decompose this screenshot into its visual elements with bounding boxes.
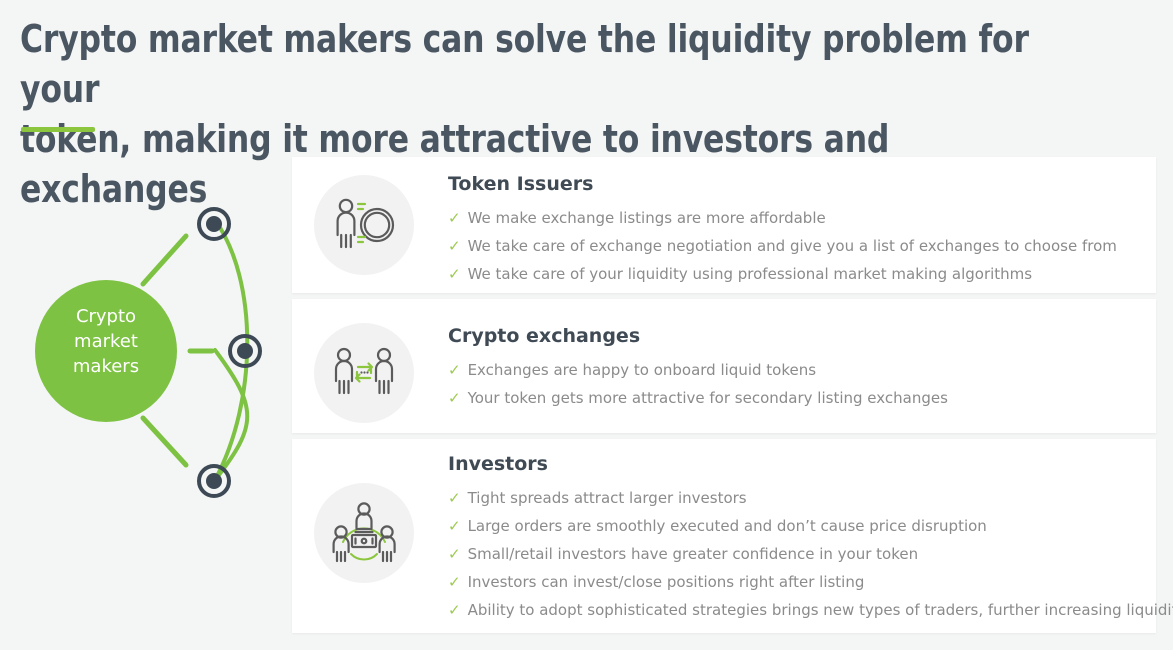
bullet-item: ✓ We take care of your liquidity using p… bbox=[448, 260, 1140, 288]
check-icon: ✓ bbox=[448, 260, 461, 288]
card-token-issuers[interactable]: Token Issuers ✓ We make exchange listing… bbox=[292, 157, 1156, 293]
check-icon: ✓ bbox=[448, 568, 461, 596]
card-investors[interactable]: Investors ✓ Tight spreads attract larger… bbox=[292, 439, 1156, 633]
check-icon: ✓ bbox=[448, 204, 461, 232]
bullet-text: We take care of exchange negotiation and… bbox=[468, 232, 1140, 260]
diagram-spoke-bottom bbox=[143, 418, 186, 465]
benefit-cards-list: Token Issuers ✓ We make exchange listing… bbox=[292, 157, 1156, 639]
check-icon: ✓ bbox=[448, 484, 461, 512]
bullet-item: ✓ Large orders are smoothly executed and… bbox=[448, 512, 1173, 540]
two-people-exchange-arrows-icon bbox=[314, 323, 414, 423]
node-investors bbox=[199, 466, 229, 496]
hub-circle bbox=[35, 280, 177, 422]
card-heading: Crypto exchanges bbox=[448, 325, 1140, 347]
check-icon: ✓ bbox=[448, 356, 461, 384]
bullet-text: Investors can invest/close positions rig… bbox=[468, 568, 1173, 596]
bullet-item: ✓ Exchanges are happy to onboard liquid … bbox=[448, 356, 1140, 384]
card-body: Investors ✓ Tight spreads attract larger… bbox=[426, 439, 1173, 638]
bullet-text: We take care of your liquidity using pro… bbox=[468, 260, 1140, 288]
title-underline-accent bbox=[21, 127, 95, 132]
diagram-spoke-top bbox=[143, 236, 186, 284]
bullet-text: Your token gets more attractive for seco… bbox=[468, 384, 1140, 412]
bullet-item: ✓ We take care of exchange negotiation a… bbox=[448, 232, 1140, 260]
check-icon: ✓ bbox=[448, 512, 461, 540]
check-icon: ✓ bbox=[448, 596, 461, 624]
bullet-item: ✓ Tight spreads attract larger investors bbox=[448, 484, 1173, 512]
card-body: Token Issuers ✓ We make exchange listing… bbox=[426, 157, 1156, 302]
person-with-list-and-coin-icon bbox=[314, 175, 414, 275]
card-body: Crypto exchanges ✓ Exchanges are happy t… bbox=[426, 299, 1156, 426]
bullet-text: Exchanges are happy to onboard liquid to… bbox=[468, 356, 1140, 384]
bullet-item: ✓ Ability to adopt sophisticated strateg… bbox=[448, 596, 1173, 624]
bullet-item: ✓ We make exchange listings are more aff… bbox=[448, 204, 1140, 232]
bullet-text: Tight spreads attract larger investors bbox=[468, 484, 1173, 512]
bullet-item: ✓ Your token gets more attractive for se… bbox=[448, 384, 1140, 412]
card-heading: Token Issuers bbox=[448, 173, 1140, 195]
bullet-item: ✓ Investors can invest/close positions r… bbox=[448, 568, 1173, 596]
diagram-arc-connector-lower bbox=[215, 350, 247, 480]
bullet-text: We make exchange listings are more affor… bbox=[468, 204, 1140, 232]
card-crypto-exchanges[interactable]: Crypto exchanges ✓ Exchanges are happy t… bbox=[292, 299, 1156, 433]
bullet-text: Small/retail investors have greater conf… bbox=[468, 540, 1173, 568]
node-token-issuers bbox=[199, 209, 229, 239]
card-heading: Investors bbox=[448, 453, 1173, 475]
bullet-text: Ability to adopt sophisticated strategie… bbox=[468, 596, 1173, 624]
crypto-market-makers-diagram: Crypto market makers bbox=[0, 150, 292, 650]
bullet-item: ✓ Small/retail investors have greater co… bbox=[448, 540, 1173, 568]
check-icon: ✓ bbox=[448, 540, 461, 568]
bullet-text: Large orders are smoothly executed and d… bbox=[468, 512, 1173, 540]
three-people-around-money-icon bbox=[314, 483, 414, 583]
check-icon: ✓ bbox=[448, 232, 461, 260]
check-icon: ✓ bbox=[448, 384, 461, 412]
